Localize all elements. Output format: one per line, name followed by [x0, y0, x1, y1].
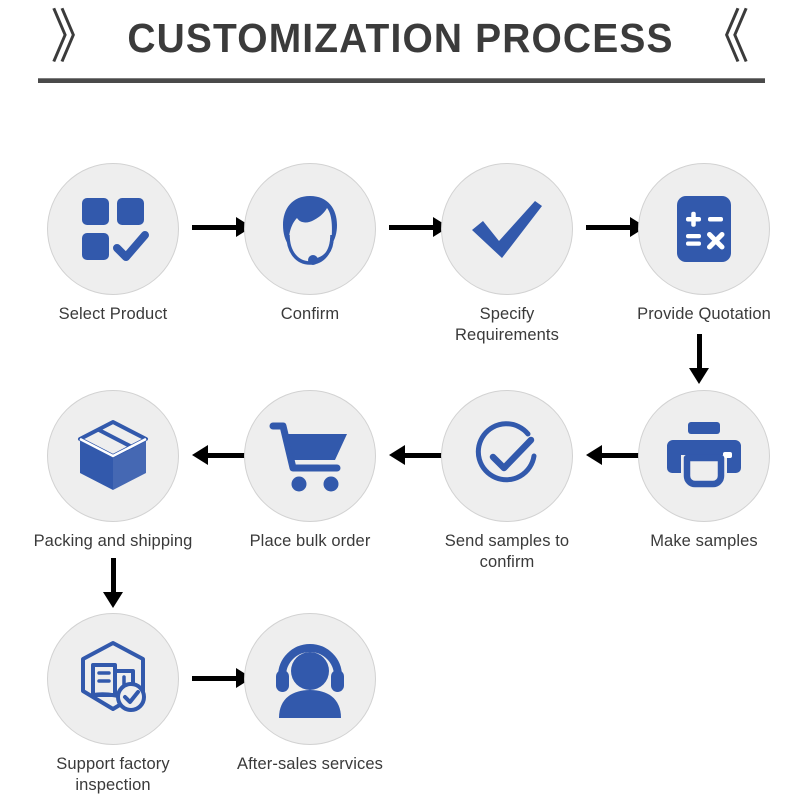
step-icon-circle	[47, 613, 179, 745]
step-node-packing-and-shipping[interactable]: Packing and shipping	[33, 390, 193, 552]
chevron-left-decoration: 》	[51, 9, 103, 67]
step-node-confirm[interactable]: Confirm	[230, 163, 390, 325]
step-label: Send samples to confirm	[427, 531, 587, 573]
step-icon-circle	[244, 613, 376, 745]
step-label: Place bulk order	[230, 531, 390, 552]
step-node-send-samples-to-confirm[interactable]: Send samples to confirm	[427, 390, 587, 573]
title-row: 》 CUSTOMIZATION PROCESS 《	[0, 12, 800, 64]
step-label: After-sales services	[230, 754, 390, 775]
calculator-icon	[667, 192, 741, 266]
shield-inspection-icon	[71, 637, 155, 721]
step-node-select-product[interactable]: Select Product	[33, 163, 193, 325]
step-label: Confirm	[230, 304, 390, 325]
printer-icon	[665, 420, 743, 492]
package-box-icon	[72, 417, 154, 495]
step-label: Packing and shipping	[33, 531, 193, 552]
connector-arrow-down	[689, 334, 709, 384]
headset-person-icon	[269, 640, 351, 718]
circle-check-icon	[467, 416, 547, 496]
step-icon-circle	[47, 390, 179, 522]
step-label: Provide Quotation	[624, 304, 784, 325]
page-header: 》 CUSTOMIZATION PROCESS 《	[0, 0, 800, 95]
step-icon-circle	[441, 390, 573, 522]
step-node-make-samples[interactable]: Make samples	[624, 390, 784, 552]
grid-check-icon	[74, 190, 152, 268]
step-icon-circle	[441, 163, 573, 295]
step-node-place-bulk-order[interactable]: Place bulk order	[230, 390, 390, 552]
step-node-support-factory-inspection[interactable]: Support factory inspection	[33, 613, 193, 796]
step-label: Select Product	[33, 304, 193, 325]
checkmark-icon	[466, 188, 548, 270]
step-label: Specify Requirements	[427, 304, 587, 346]
step-icon-circle	[638, 390, 770, 522]
step-node-after-sales-services[interactable]: After-sales services	[230, 613, 390, 775]
step-icon-circle	[47, 163, 179, 295]
shopping-cart-icon	[269, 418, 351, 494]
step-node-specify-requirements[interactable]: Specify Requirements	[427, 163, 587, 346]
step-node-provide-quotation[interactable]: Provide Quotation	[624, 163, 784, 325]
step-icon-circle	[638, 163, 770, 295]
step-label: Make samples	[624, 531, 784, 552]
support-agent-headset-icon	[270, 189, 350, 269]
title-divider	[38, 78, 765, 83]
connector-arrow-down	[103, 558, 123, 608]
step-icon-circle	[244, 163, 376, 295]
page-title: CUSTOMIZATION PROCESS	[127, 14, 673, 62]
step-label: Support factory inspection	[33, 754, 193, 796]
step-icon-circle	[244, 390, 376, 522]
chevron-right-decoration: 《	[697, 9, 749, 67]
